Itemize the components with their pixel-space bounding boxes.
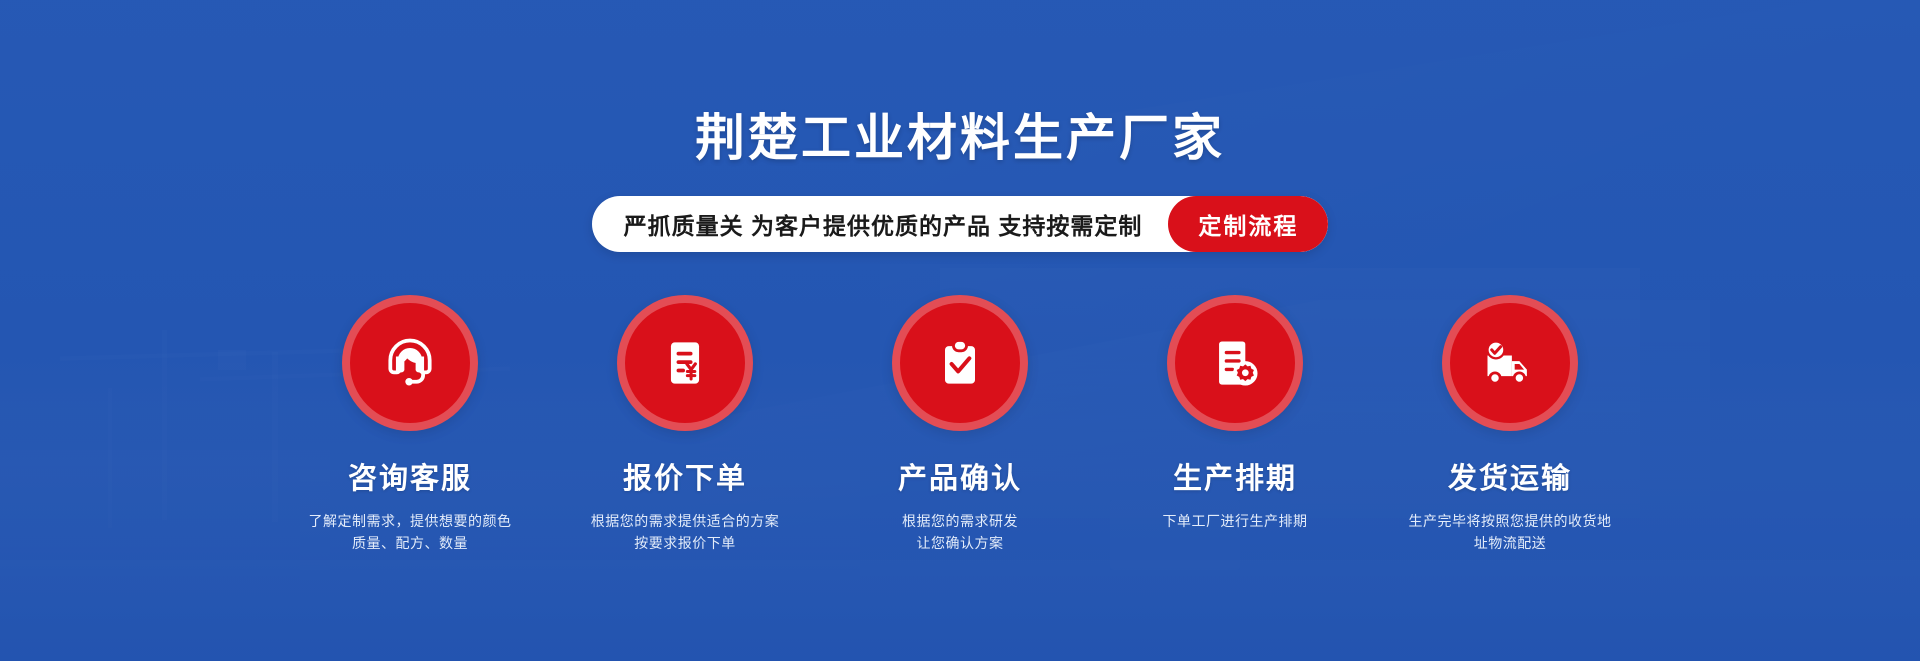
step-description-line2: 按要求报价下单 <box>591 533 780 555</box>
step-description-line2: 让您确认方案 <box>902 533 1018 555</box>
step-description: 下单工厂进行生产排期 <box>1163 511 1308 533</box>
step-description-line1: 了解定制需求，提供想要的颜色 <box>309 511 512 533</box>
custom-process-button[interactable]: 定制流程 <box>1168 196 1328 252</box>
step-title: 发货运输 <box>1448 455 1572 497</box>
step-description-line2: 址物流配送 <box>1409 533 1612 555</box>
process-steps: 咨询客服 了解定制需求，提供想要的颜色 质量、配方、数量 <box>0 295 1920 554</box>
banner-headline: 荆楚工业材料生产厂家 <box>0 98 1920 170</box>
step-description: 根据您的需求研发 让您确认方案 <box>902 511 1018 554</box>
step-description-line1: 根据您的需求提供适合的方案 <box>591 511 780 533</box>
clipboard-check-icon <box>930 333 990 393</box>
tagline-pill: 严抓质量关 为客户提供优质的产品 支持按需定制 定制流程 <box>592 196 1329 252</box>
tagline-pill-wrapper: 严抓质量关 为客户提供优质的产品 支持按需定制 定制流程 <box>0 196 1920 252</box>
tagline-text: 严抓质量关 为客户提供优质的产品 支持按需定制 <box>592 196 1169 252</box>
step-title: 报价下单 <box>623 455 747 497</box>
step-description-line1: 根据您的需求研发 <box>902 511 1018 533</box>
step-description: 生产完毕将按照您提供的收货地 址物流配送 <box>1409 511 1612 554</box>
step-description-line1: 生产完毕将按照您提供的收货地 <box>1409 511 1612 533</box>
process-step-confirm[interactable]: 产品确认 根据您的需求研发 让您确认方案 <box>853 295 1068 554</box>
step-description-line1: 下单工厂进行生产排期 <box>1163 511 1308 533</box>
step-badge <box>1167 295 1303 431</box>
delivery-truck-check-icon <box>1480 333 1540 393</box>
step-description: 根据您的需求提供适合的方案 按要求报价下单 <box>591 511 780 554</box>
step-badge <box>1442 295 1578 431</box>
step-badge <box>617 295 753 431</box>
process-step-quote[interactable]: 报价下单 根据您的需求提供适合的方案 按要求报价下单 <box>578 295 793 554</box>
step-badge <box>342 295 478 431</box>
step-title: 咨询客服 <box>348 455 472 497</box>
banner-content: 荆楚工业材料生产厂家 严抓质量关 为客户提供优质的产品 支持按需定制 定制流程 <box>0 0 1920 661</box>
quotation-invoice-icon <box>655 333 715 393</box>
process-step-schedule[interactable]: 生产排期 下单工厂进行生产排期 <box>1128 295 1343 533</box>
step-description: 了解定制需求，提供想要的颜色 质量、配方、数量 <box>309 511 512 554</box>
step-title: 生产排期 <box>1173 455 1297 497</box>
step-description-line2: 质量、配方、数量 <box>309 533 512 555</box>
process-step-delivery[interactable]: 发货运输 生产完毕将按照您提供的收货地 址物流配送 <box>1403 295 1618 554</box>
promo-banner: 荆楚工业材料生产厂家 严抓质量关 为客户提供优质的产品 支持按需定制 定制流程 <box>0 0 1920 661</box>
headset-support-icon <box>380 333 440 393</box>
step-badge <box>892 295 1028 431</box>
document-gear-icon <box>1205 333 1265 393</box>
process-step-consult[interactable]: 咨询客服 了解定制需求，提供想要的颜色 质量、配方、数量 <box>303 295 518 554</box>
step-title: 产品确认 <box>898 455 1022 497</box>
